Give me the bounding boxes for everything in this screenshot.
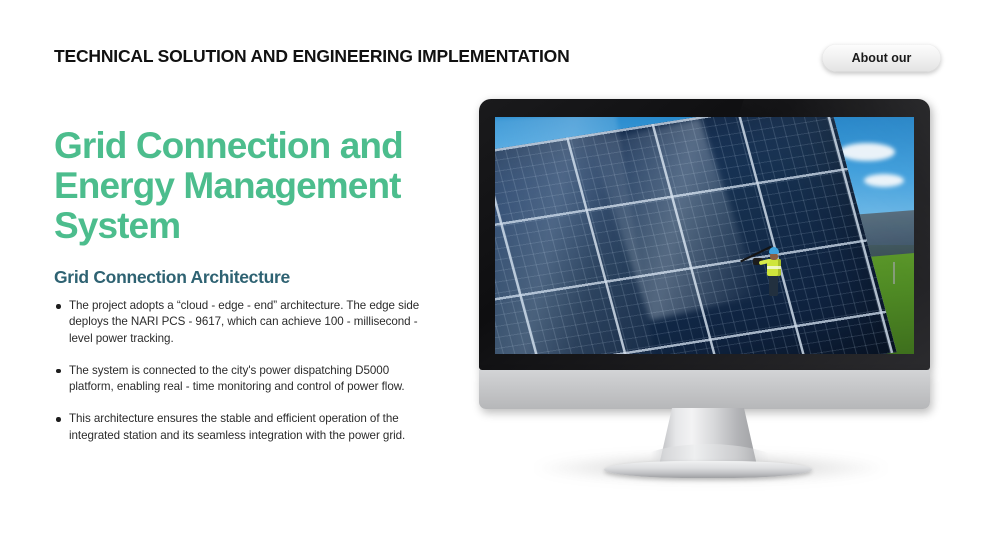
hard-hat-icon [769,247,779,254]
slide-canvas: TECHNICAL SOLUTION AND ENGINEERING IMPLE… [0,0,993,558]
section-subheading: Grid Connection Architecture [54,267,290,288]
bullet-dot-icon [56,369,61,374]
monitor-chin [479,370,930,409]
monitor-screen-image [495,117,914,354]
bullet-dot-icon [56,417,61,422]
list-item: The project adopts a “cloud - edge - end… [54,298,420,347]
list-item: This architecture ensures the stable and… [54,411,420,444]
cloud-icon [864,174,904,187]
about-our-button[interactable]: About our [822,44,941,72]
list-item-text: This architecture ensures the stable and… [69,412,405,441]
cloud-icon [839,143,895,161]
panel-support-post [893,262,895,284]
list-item-text: The project adopts a “cloud - edge - end… [69,299,419,345]
worker-head [770,253,778,260]
monitor-mockup [479,99,937,479]
list-item-text: The system is connected to the city's po… [69,364,405,393]
technician-figure [761,247,787,299]
vest-reflective-stripe [767,266,781,268]
list-item: The system is connected to the city's po… [54,363,420,396]
page-eyebrow-title: TECHNICAL SOLUTION AND ENGINEERING IMPLE… [54,46,570,67]
monitor-stand-base [604,461,812,478]
bullet-list: The project adopts a “cloud - edge - end… [54,298,420,444]
worker-legs [769,274,778,296]
monitor-bezel [479,99,930,370]
solar-panel-array [495,117,897,354]
page-title: Grid Connection and Energy Management Sy… [54,126,454,246]
bullet-dot-icon [56,304,61,309]
